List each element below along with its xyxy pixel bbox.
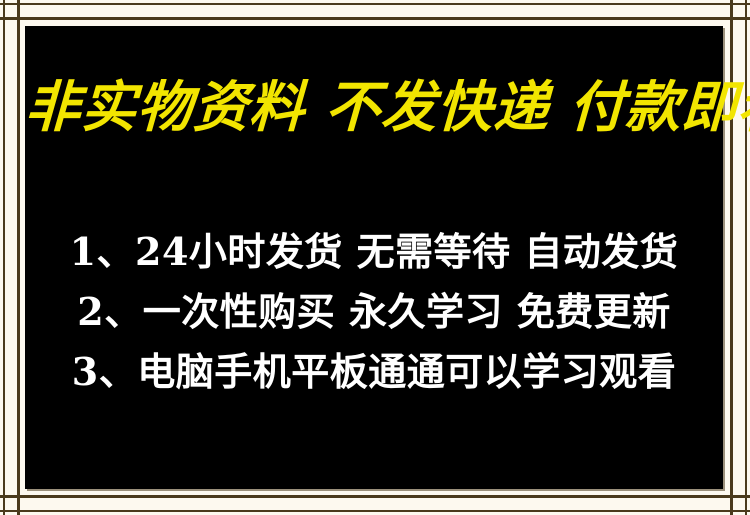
bullet-list: 1、24小时发货 无需等待 自动发货 2、一次性购买 永久学习 免费更新 3、电… — [25, 222, 723, 402]
bullet-line-3: 3、电脑手机平板通通可以学习观看 — [25, 342, 723, 402]
frame-rule-left-inner — [17, 0, 20, 515]
frame-rule-bottom-outer — [0, 510, 750, 512]
frame-rule-bottom-inner — [0, 495, 750, 498]
frame-rule-top-outer — [0, 3, 750, 5]
bullet-line-1: 1、24小时发货 无需等待 自动发货 — [25, 222, 723, 282]
headline-text: 非实物资料 不发快递 付款即看 — [24, 74, 724, 140]
promo-banner: 非实物资料 不发快递 付款即看 1、24小时发货 无需等待 自动发货 2、一次性… — [0, 0, 750, 515]
frame-rule-top-inner — [0, 17, 750, 20]
content-panel: 非实物资料 不发快递 付款即看 1、24小时发货 无需等待 自动发货 2、一次性… — [25, 26, 723, 489]
bullet-line-2: 2、一次性购买 永久学习 免费更新 — [25, 282, 723, 342]
frame-rule-left-outer — [3, 0, 5, 515]
